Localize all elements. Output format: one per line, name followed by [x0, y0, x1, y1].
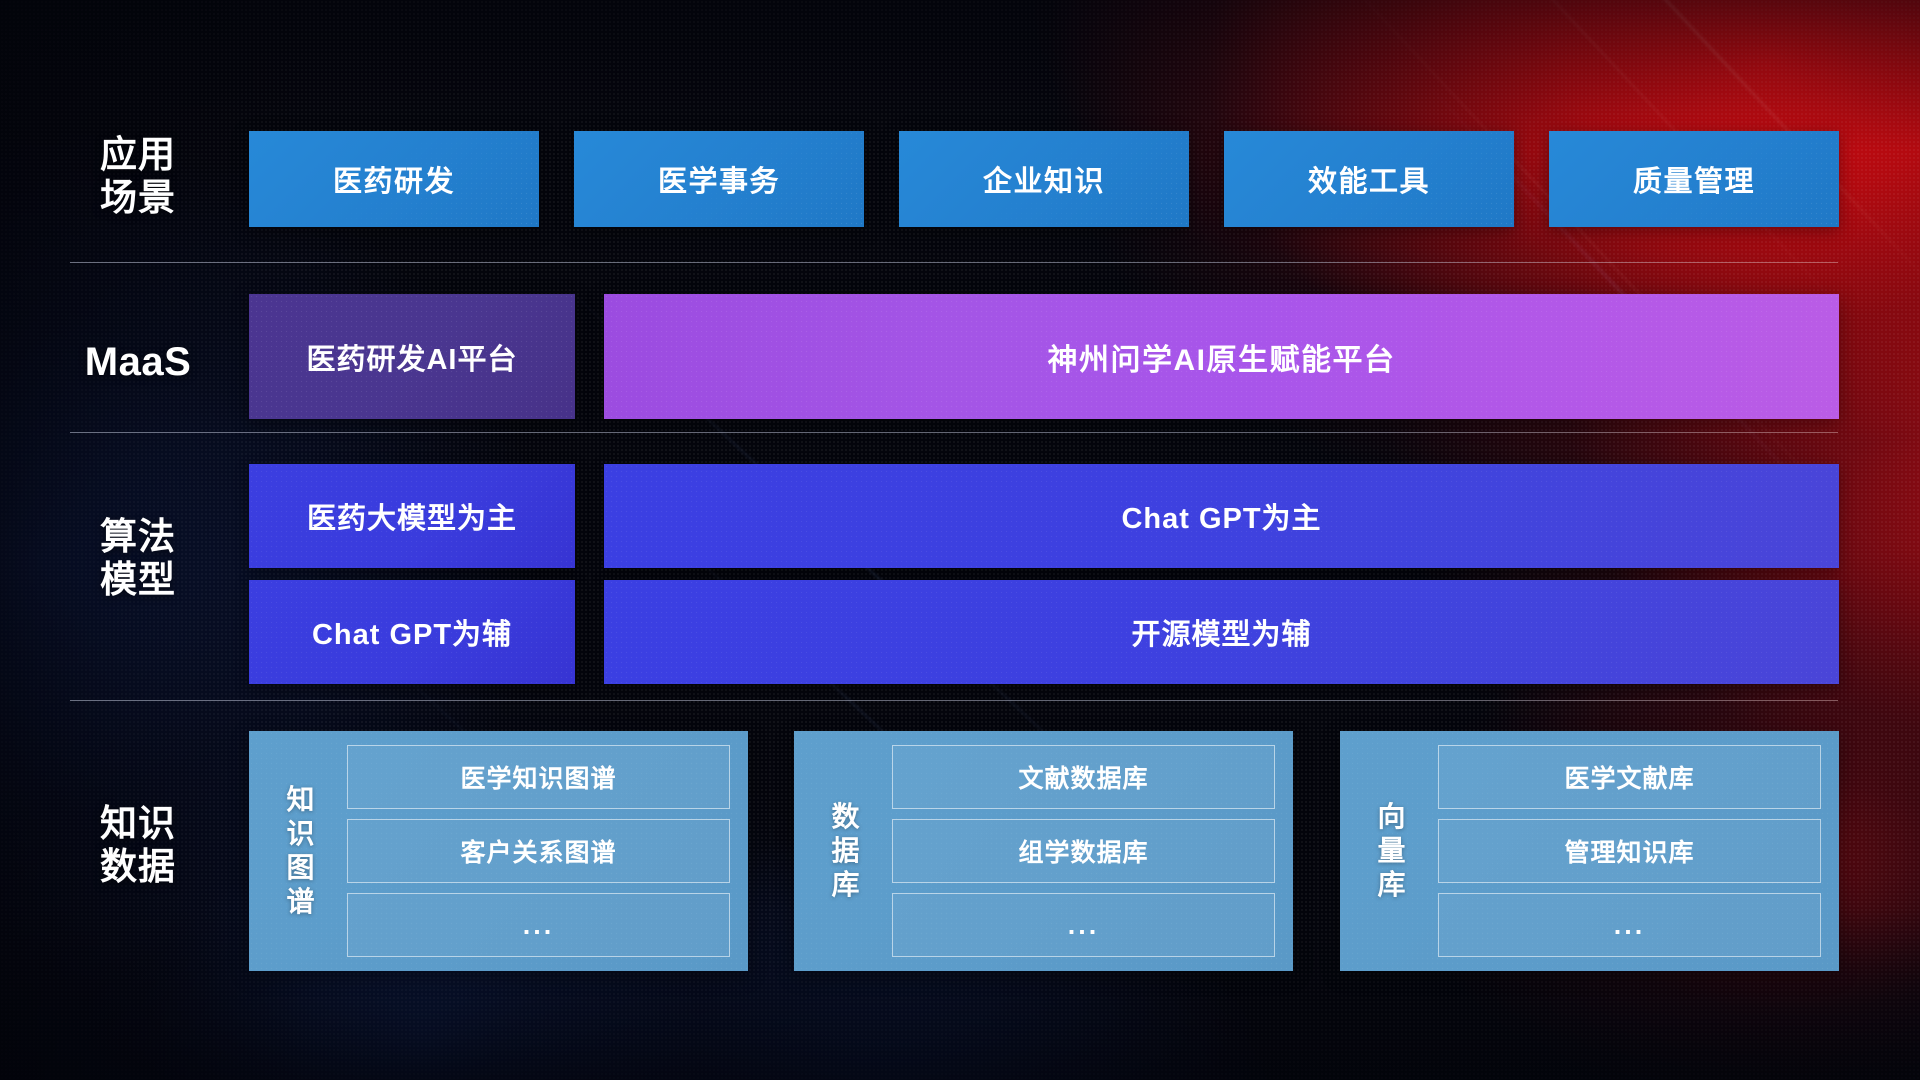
- algo-box-chatgpt-primary[interactable]: Chat GPT为主: [604, 464, 1839, 568]
- knowledge-item[interactable]: 医学知识图谱: [347, 745, 730, 809]
- app-box-label: 效能工具: [1308, 158, 1430, 200]
- knowledge-group-items: 医学知识图谱 客户关系图谱 ...: [339, 745, 730, 957]
- maas-box-label: 神州问学AI原生赋能平台: [1048, 335, 1396, 379]
- row-label-application-scenarios: 应用 场景: [78, 134, 198, 220]
- knowledge-item[interactable]: 文献数据库: [892, 745, 1275, 809]
- knowledge-item-more[interactable]: ...: [1438, 893, 1821, 957]
- knowledge-item[interactable]: 医学文献库: [1438, 745, 1821, 809]
- knowledge-group-database[interactable]: 数 据 库 文献数据库 组学数据库 ...: [794, 731, 1293, 971]
- app-box-label: 医药研发: [333, 158, 455, 200]
- app-box-label: 质量管理: [1633, 158, 1755, 200]
- algo-box-label: 医药大模型为主: [307, 495, 517, 537]
- algo-box-medicine-large-model-primary[interactable]: 医药大模型为主: [249, 464, 575, 568]
- knowledge-group-items: 文献数据库 组学数据库 ...: [884, 745, 1275, 957]
- row-divider-1: [70, 262, 1838, 263]
- app-box-quality-management[interactable]: 质量管理: [1549, 131, 1839, 227]
- knowledge-group-items: 医学文献库 管理知识库 ...: [1430, 745, 1821, 957]
- app-box-label: 企业知识: [983, 158, 1105, 200]
- row-divider-3: [70, 700, 1838, 701]
- knowledge-item[interactable]: 组学数据库: [892, 819, 1275, 883]
- knowledge-group-title: 数 据 库: [808, 800, 884, 902]
- maas-box-medicine-rd-ai-platform[interactable]: 医药研发AI平台: [249, 294, 575, 419]
- row-divider-2: [70, 432, 1838, 433]
- row-label-algorithm-models: 算法 模型: [78, 516, 198, 602]
- app-box-medicine-rd[interactable]: 医药研发: [249, 131, 539, 227]
- maas-box-shenzhou-wenxue-platform[interactable]: 神州问学AI原生赋能平台: [604, 294, 1839, 419]
- algo-box-label: 开源模型为辅: [1131, 611, 1311, 653]
- row-label-knowledge-data: 知识 数据: [78, 803, 198, 889]
- knowledge-item-more[interactable]: ...: [347, 893, 730, 957]
- algo-box-label: Chat GPT为辅: [312, 611, 512, 653]
- app-box-efficiency-tools[interactable]: 效能工具: [1224, 131, 1514, 227]
- knowledge-group-title: 向 量 库: [1354, 800, 1430, 902]
- app-box-enterprise-knowledge[interactable]: 企业知识: [899, 131, 1189, 227]
- knowledge-item-more[interactable]: ...: [892, 893, 1275, 957]
- algo-box-opensource-model-secondary[interactable]: 开源模型为辅: [604, 580, 1839, 684]
- algo-box-label: Chat GPT为主: [1121, 495, 1321, 537]
- knowledge-item[interactable]: 客户关系图谱: [347, 819, 730, 883]
- algo-box-chatgpt-secondary[interactable]: Chat GPT为辅: [249, 580, 575, 684]
- app-box-label: 医学事务: [658, 158, 780, 200]
- knowledge-group-vector-database[interactable]: 向 量 库 医学文献库 管理知识库 ...: [1340, 731, 1839, 971]
- knowledge-group-knowledge-graph[interactable]: 知 识 图 谱 医学知识图谱 客户关系图谱 ...: [249, 731, 748, 971]
- knowledge-item[interactable]: 管理知识库: [1438, 819, 1821, 883]
- maas-box-label: 医药研发AI平台: [306, 336, 517, 378]
- architecture-diagram: 应用 场景 医药研发 医学事务 企业知识 效能工具 质量管理 MaaS 医药研发…: [0, 0, 1920, 1080]
- row-label-maas: MaaS: [78, 339, 198, 385]
- app-box-medical-affairs[interactable]: 医学事务: [574, 131, 864, 227]
- knowledge-group-title: 知 识 图 谱: [263, 783, 339, 920]
